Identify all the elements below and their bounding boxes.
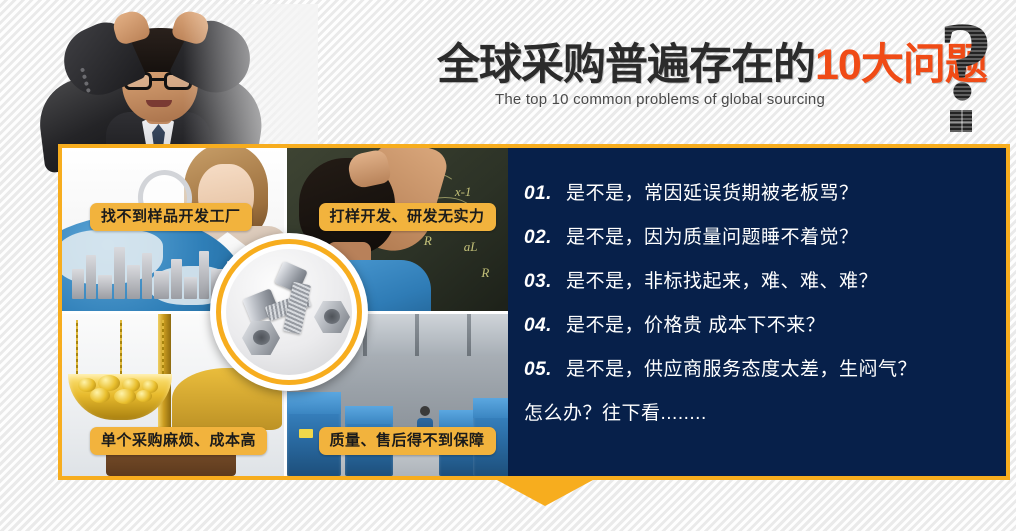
collage-tag-2: 打样开发、研发无实力 <box>319 203 496 231</box>
hex-nut-1-hole <box>253 330 270 345</box>
list-item-text: 是不是，常因延误货期被老板骂？ <box>566 178 859 205</box>
bolt-thread-2 <box>283 282 311 335</box>
list-item-number: 01. <box>524 183 566 205</box>
badge-orange-ring <box>216 239 362 385</box>
list-item-text: 是不是，供应商服务态度太差，生闷气？ <box>566 354 917 381</box>
fasteners-photo <box>226 249 352 375</box>
collage-tag-1: 找不到样品开发工厂 <box>90 203 252 231</box>
collage-tag-4: 质量、售后得不到保障 <box>319 427 496 455</box>
banner-header: 全球采购普遍存在的10大问题 The top 10 common problem… <box>0 0 1016 144</box>
main-panel: 找不到样品开发工厂 x-b x-1 R aL R L R 打样开发、研发无实力 <box>58 144 1010 480</box>
hex-nut-2-hole <box>324 309 340 324</box>
promo-banner: 全球采购普遍存在的10大问题 The top 10 common problem… <box>0 0 1016 531</box>
question-mark-dot <box>950 110 972 132</box>
question-mark-icon: ? <box>938 22 1008 138</box>
question-mark-glyph: ? <box>938 6 994 118</box>
stressed-businessman-photo <box>18 4 318 154</box>
image-collage: 找不到样品开发工厂 x-b x-1 R aL R L R 打样开发、研发无实力 <box>62 148 508 476</box>
mouth <box>146 100 172 107</box>
chalk-text-4: aL <box>464 239 478 255</box>
list-item: 02. 是不是，因为质量问题睡不着觉？ <box>524 222 1006 249</box>
list-footer-text: 怎么办？往下看........ <box>524 398 1006 425</box>
title-block: 全球采购普遍存在的10大问题 The top 10 common problem… <box>437 44 957 108</box>
list-item-number: 05. <box>524 359 566 381</box>
problem-list: 01. 是不是，常因延误货期被老板骂？ 02. 是不是，因为质量问题睡不着觉？ … <box>508 148 1006 476</box>
list-item: 05. 是不是，供应商服务态度太差，生闷气？ <box>524 354 1006 381</box>
list-item-number: 04. <box>524 315 566 337</box>
down-arrow-icon <box>497 480 593 506</box>
list-item-text: 是不是，因为质量问题睡不着觉？ <box>566 222 859 249</box>
title-main-text: 全球采购普遍存在的 <box>437 41 815 89</box>
collage-tag-3: 单个采购麻烦、成本高 <box>90 427 267 455</box>
list-item-text: 是不是，价格贵 成本下不来？ <box>566 310 825 337</box>
chalk-text-5: R <box>481 265 489 281</box>
list-item-text: 是不是，非标找起来，难、难、难？ <box>566 266 878 293</box>
list-item: 04. 是不是，价格贵 成本下不来？ <box>524 310 1006 337</box>
list-item: 03. 是不是，非标找起来，难、难、难？ <box>524 266 1006 293</box>
scale-pan <box>68 374 172 420</box>
list-item: 01. 是不是，常因延误货期被老板骂？ <box>524 178 1006 205</box>
list-item-number: 02. <box>524 227 566 249</box>
page-title: 全球采购普遍存在的10大问题 <box>437 44 957 87</box>
center-badge <box>210 233 368 391</box>
chalk-text-7: R <box>424 233 432 249</box>
page-subtitle: The top 10 common problems of global sou… <box>495 91 957 108</box>
list-item-number: 03. <box>524 271 566 293</box>
